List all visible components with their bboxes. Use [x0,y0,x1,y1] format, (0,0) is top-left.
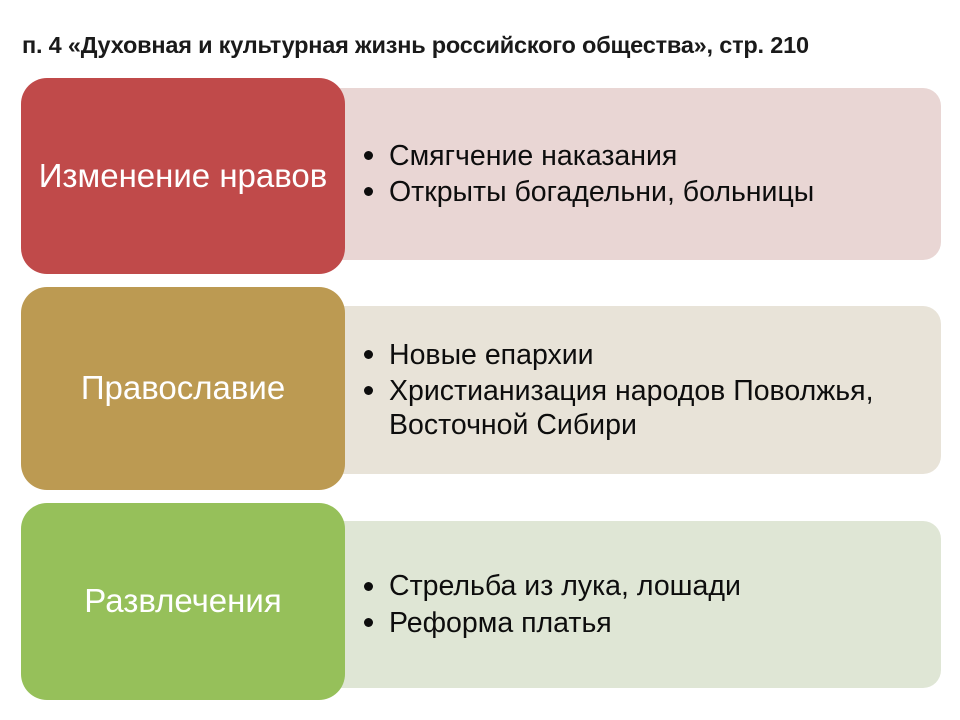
row-3-category-chip: Развлечения [21,503,345,700]
list-item-label: Открыты богадельни, больницы [389,176,814,208]
bullet-dot-icon [364,350,373,359]
list-item-label: Новые епархии [389,339,594,371]
row-1-category-chip: Изменение нравов [21,78,345,274]
bullet-dot-icon [364,582,373,591]
list-item-label: Стрельба из лука, лошади [389,570,741,602]
row-2-content-panel: Новые епархии Христианизация народов Пов… [300,306,941,474]
list-item: Христианизация народов Поволжья, Восточн… [362,374,925,442]
list-item-label: Смягчение наказания [389,140,677,172]
row-2-category-chip: Православие [21,287,345,490]
list-item: Новые епархии [362,338,925,372]
list-item: Реформа платья [362,606,925,640]
bullet-dot-icon [364,618,373,627]
list-item: Смягчение наказания [362,139,925,173]
bullet-dot-icon [364,187,373,196]
row-3-bullet-list: Стрельба из лука, лошади Реформа платья [362,569,925,639]
row-3-content-panel: Стрельба из лука, лошади Реформа платья [300,521,941,688]
list-item-label: Реформа платья [389,607,612,639]
row-1-content-panel: Смягчение наказания Открыты богадельни, … [300,88,941,260]
bullet-dot-icon [364,386,373,395]
row-2-bullet-list: Новые епархии Христианизация народов Пов… [362,338,925,443]
slide-canvas: п. 4 «Духовная и культурная жизнь россий… [0,0,960,720]
bullet-dot-icon [364,151,373,160]
list-item: Стрельба из лука, лошади [362,569,925,603]
row-2-category-label: Православие [81,369,285,407]
row-1-bullet-list: Смягчение наказания Открыты богадельни, … [362,139,925,209]
row-1-category-label: Изменение нравов [39,157,328,195]
list-item-label: Христианизация народов Поволжья, Восточн… [389,375,874,441]
row-3-category-label: Развлечения [84,582,281,620]
page-title: п. 4 «Духовная и культурная жизнь россий… [22,32,942,59]
list-item: Открыты богадельни, больницы [362,175,925,209]
